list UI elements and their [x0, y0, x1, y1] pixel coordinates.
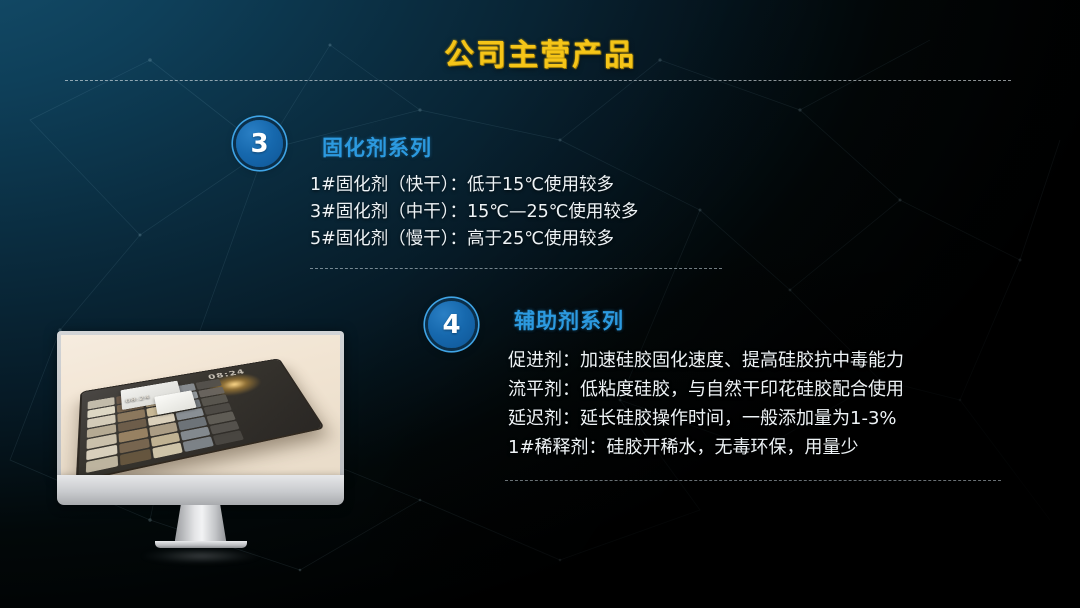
desktop-monitor-image: 08:24 08:24	[57, 331, 344, 551]
section-body-4: 促进剂：加速硅胶固化速度、提高硅胶抗中毒能力 流平剂：低粘度硅胶，与自然干印花硅…	[508, 346, 904, 462]
section-heading-4: 辅助剂系列	[514, 305, 624, 335]
divider-bottom	[505, 480, 1001, 481]
page-title: 公司主营产品	[0, 30, 1080, 74]
body-line: 流平剂：低粘度硅胶，与自然干印花硅胶配合使用	[508, 375, 904, 404]
monitor-stand-neck	[175, 505, 227, 543]
tablet-device: 08:24 08:24	[75, 341, 325, 473]
divider-top	[65, 80, 1011, 81]
monitor-stand-base	[155, 541, 247, 548]
body-line: 1#稀释剂：硅胶开稀水，无毒环保，用量少	[508, 433, 904, 462]
section-body-3: 1#固化剂（快干）：低于15℃使用较多 3#固化剂（中干）：15℃—25℃使用较…	[310, 172, 638, 253]
body-line: 促进剂：加速硅胶固化速度、提高硅胶抗中毒能力	[508, 346, 904, 375]
slide-canvas: 公司主营产品 3 固化剂系列 1#固化剂（快干）：低于15℃使用较多 3#固化剂…	[0, 0, 1080, 608]
body-line: 延迟剂：延长硅胶操作时间，一般添加量为1-3%	[508, 404, 904, 433]
monitor-reflection	[141, 548, 261, 564]
monitor-chin	[57, 475, 344, 505]
section-badge-3: 3	[236, 120, 283, 167]
body-line: 1#固化剂（快干）：低于15℃使用较多	[310, 172, 638, 199]
monitor-frame: 08:24 08:24	[57, 331, 344, 475]
tablet-body: 08:24 08:24	[78, 359, 322, 475]
section-badge-4: 4	[428, 301, 475, 348]
section-heading-3: 固化剂系列	[322, 132, 432, 162]
divider-middle	[310, 268, 722, 269]
body-line: 3#固化剂（中干）：15℃—25℃使用较多	[310, 199, 638, 226]
body-line: 5#固化剂（慢干）：高于25℃使用较多	[310, 226, 638, 253]
monitor-screen: 08:24 08:24	[61, 335, 340, 475]
